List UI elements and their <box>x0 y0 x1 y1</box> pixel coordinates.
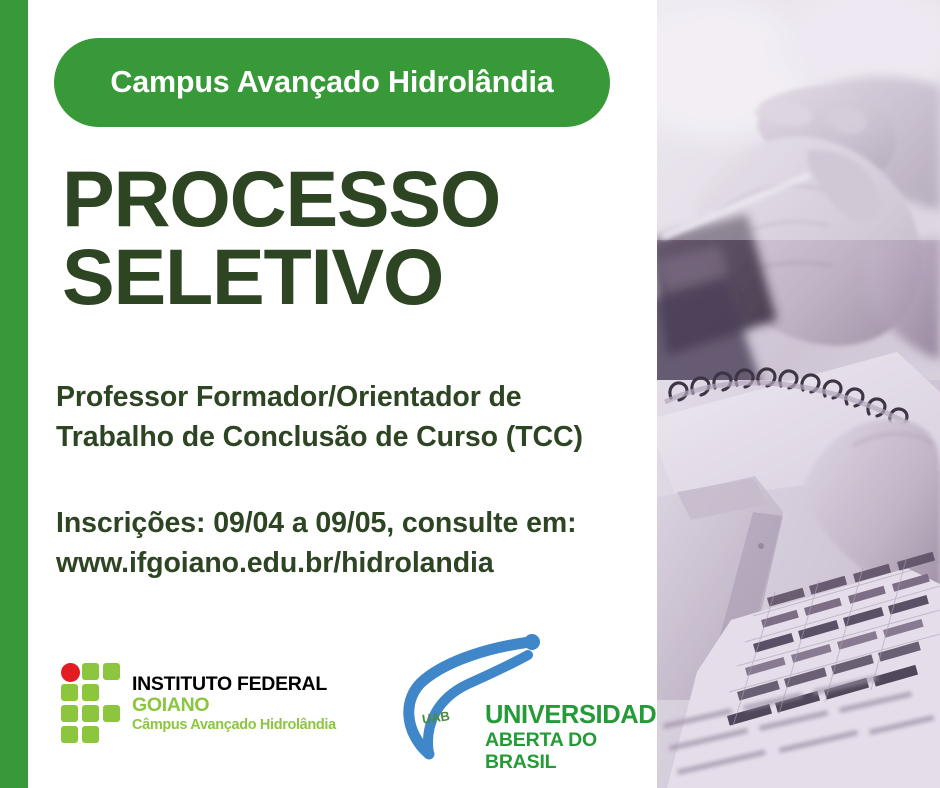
if-goiano-line-3: Câmpus Avançado Hidrolândia <box>132 716 336 734</box>
page-title: PROCESSO SELETIVO <box>62 160 622 316</box>
uab-line-1: UNIVERSIDADE <box>485 703 673 729</box>
page-title-line-1: PROCESSO <box>62 160 622 238</box>
if-goiano-square <box>103 663 120 680</box>
hero-photo <box>657 0 940 788</box>
position-subtitle-line-1: Professor Formador/Orientador de <box>56 377 656 417</box>
position-subtitle: Professor Formador/Orientador de Trabalh… <box>56 377 656 458</box>
if-goiano-mark-icon <box>61 663 120 745</box>
enrollment-dates: Inscrições: 09/04 a 09/05, consulte em: <box>56 503 666 543</box>
campus-badge: Campus Avançado Hidrolândia <box>54 38 610 127</box>
if-goiano-square <box>82 684 99 701</box>
logos-row: INSTITUTO FEDERAL GOIANO Câmpus Avançado… <box>28 620 657 770</box>
if-goiano-square <box>61 705 78 722</box>
if-goiano-square <box>82 726 99 743</box>
enrollment-url[interactable]: www.ifgoiano.edu.br/hidrolandia <box>56 543 666 583</box>
if-goiano-square <box>61 726 78 743</box>
position-subtitle-line-2: Trabalho de Conclusão de Curso (TCC) <box>56 417 656 457</box>
if-goiano-red-dot-icon <box>61 663 80 682</box>
uab-logo: UAB UNIVERSIDADE ABERTA DO BRASIL <box>396 628 651 762</box>
if-goiano-logo: INSTITUTO FEDERAL GOIANO Câmpus Avançado… <box>61 662 336 745</box>
uab-line-2: ABERTA DO BRASIL <box>485 729 673 774</box>
poster-canvas: Campus Avançado Hidrolândia PROCESSO SEL… <box>0 0 940 788</box>
page-title-line-2: SELETIVO <box>62 238 622 316</box>
left-accent-stripe <box>0 0 28 788</box>
campus-badge-label: Campus Avançado Hidrolândia <box>110 67 553 98</box>
if-goiano-square <box>61 684 78 701</box>
hero-photo-image <box>657 0 940 788</box>
if-goiano-square <box>103 705 120 722</box>
if-goiano-square <box>82 705 99 722</box>
if-goiano-line-2: GOIANO <box>132 695 336 715</box>
if-goiano-square <box>82 663 99 680</box>
if-goiano-wordmark: INSTITUTO FEDERAL GOIANO Câmpus Avançado… <box>132 662 336 734</box>
enrollment-info: Inscrições: 09/04 a 09/05, consulte em: … <box>56 503 666 584</box>
if-goiano-line-1: INSTITUTO FEDERAL <box>132 675 336 695</box>
uab-wordmark: UNIVERSIDADE ABERTA DO BRASIL <box>485 703 673 773</box>
